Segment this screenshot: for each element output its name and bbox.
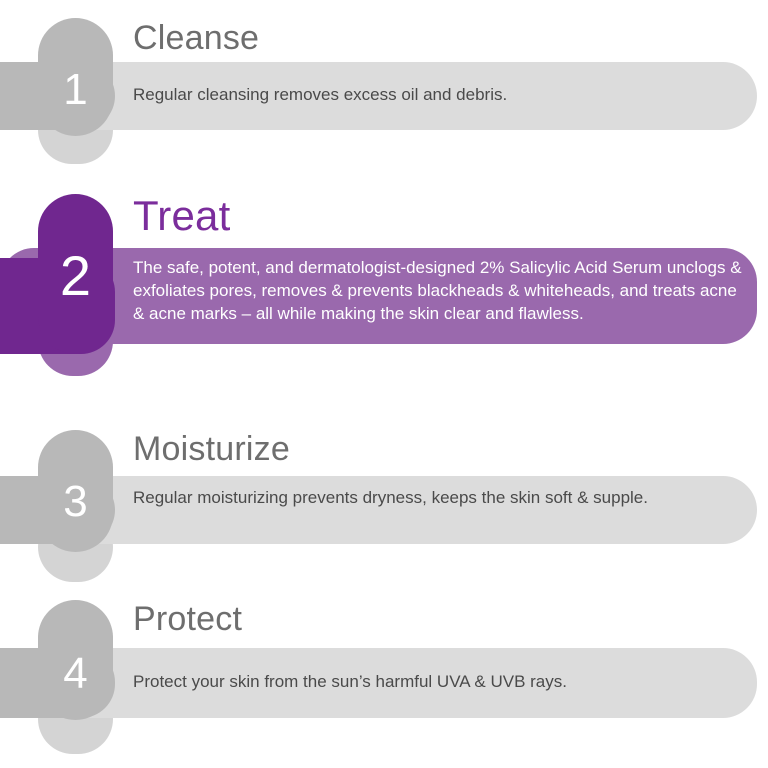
step-body-moisturize: Regular moisturizing prevents dryness, k… (133, 486, 713, 509)
step-title-protect: Protect (133, 600, 242, 639)
step-row-protect: 4 Protect Protect your skin from the sun… (0, 590, 768, 768)
step-body-protect: Protect your skin from the sun’s harmful… (133, 670, 733, 693)
step-body-treat: The safe, potent, and dermatologist-desi… (133, 256, 745, 325)
step-title-cleanse: Cleanse (133, 19, 259, 58)
skincare-routine-infographic: 1 Cleanse Regular cleansing removes exce… (0, 0, 768, 768)
step-title-moisturize: Moisturize (133, 430, 290, 469)
step-row-treat: 2 Treat The safe, potent, and dermatolog… (0, 186, 768, 400)
step-title-treat: Treat (133, 192, 230, 240)
step-number-4: 4 (38, 652, 113, 696)
step-number-3: 3 (38, 480, 113, 524)
step-number-1: 1 (38, 68, 113, 112)
step-row-cleanse: 1 Cleanse Regular cleansing removes exce… (0, 0, 768, 180)
step-row-moisturize: 3 Moisturize Regular moisturizing preven… (0, 416, 768, 596)
step-number-2: 2 (38, 248, 113, 304)
step-body-cleanse: Regular cleansing removes excess oil and… (133, 83, 733, 106)
